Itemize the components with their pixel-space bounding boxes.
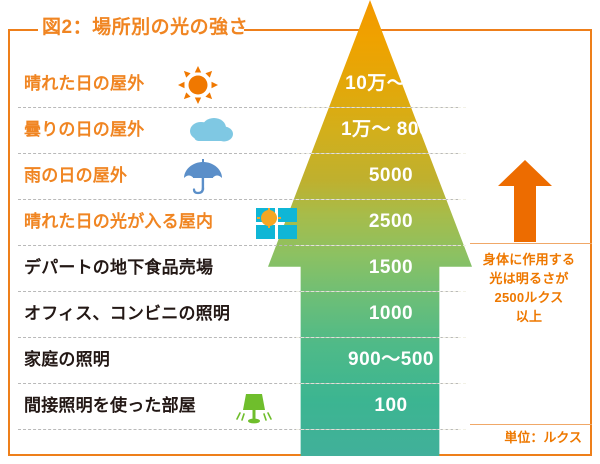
unit-label: 単位：ルクス <box>466 428 582 448</box>
unit-divider <box>470 424 592 425</box>
row-label: デパートの地下食品売場 <box>24 245 213 291</box>
row-value: 1万〜 8000 <box>306 107 476 153</box>
threshold-note: 身体に作用する 光は明るさが 2500ルクス 以上 <box>466 250 592 326</box>
row-value: 2500 <box>306 199 476 245</box>
row-label: 晴れた日の屋外 <box>24 61 144 107</box>
sun-icon <box>178 66 218 109</box>
row-label: 間接照明を使った部屋 <box>24 383 196 429</box>
note-divider <box>470 243 592 244</box>
window-icon <box>256 208 298 245</box>
row-label: オフィス、コンビニの照明 <box>24 291 230 337</box>
row-label: 家庭の照明 <box>24 337 110 383</box>
table-row: 晴れた日の屋外 10万〜2万 <box>10 61 590 107</box>
row-label: 曇りの日の屋外 <box>24 107 144 153</box>
note-line-4: 以上 <box>466 307 592 326</box>
table-row: 間接照明を使った部屋 100 <box>10 383 590 429</box>
note-line-2: 光は明るさが <box>466 269 592 288</box>
row-value: 10万〜2万 <box>306 61 476 107</box>
lamp-icon <box>234 390 274 431</box>
note-line-3: 2500ルクス <box>466 288 592 307</box>
cloud-icon <box>186 118 234 149</box>
threshold-arrow-icon <box>498 160 552 242</box>
row-value: 1000 <box>306 291 476 337</box>
row-label: 雨の日の屋外 <box>24 153 127 199</box>
row-label: 晴れた日の光が入る屋内 <box>24 199 213 245</box>
row-separator-overlay <box>296 429 466 430</box>
row-value: 1500 <box>306 245 476 291</box>
row-value: 900〜500 <box>306 337 476 383</box>
row-value: 5000 <box>306 153 476 199</box>
infographic-root: 図2：場所別の光の強さ 晴れた日の屋外 <box>0 0 600 464</box>
umbrella-icon <box>182 158 224 201</box>
note-line-1: 身体に作用する <box>466 250 592 269</box>
row-value: 100 <box>306 383 476 429</box>
table-row: 曇りの日の屋外 1万〜 8000 <box>10 107 590 153</box>
table-row: 家庭の照明 900〜500 <box>10 337 590 383</box>
